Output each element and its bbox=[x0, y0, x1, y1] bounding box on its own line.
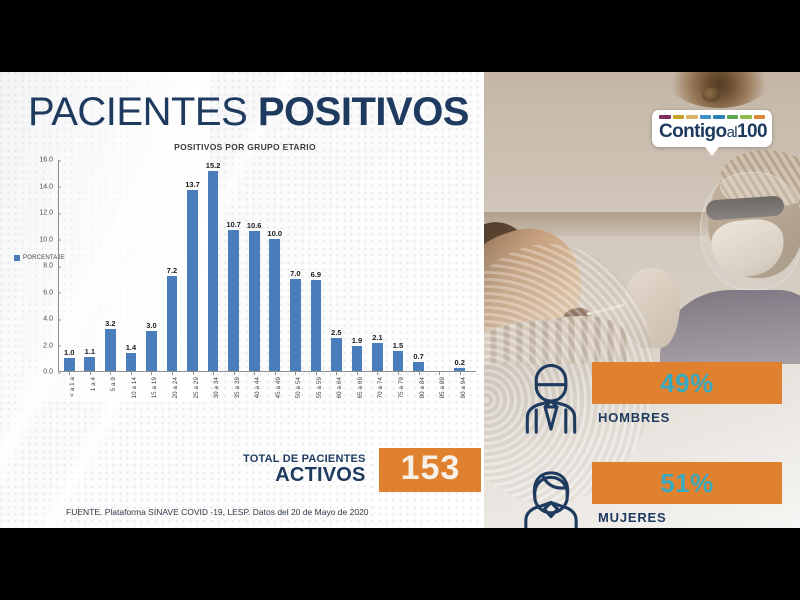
total-label-line2: ACTIVOS bbox=[243, 465, 366, 486]
bar-slot: 1.11 a 4 bbox=[80, 160, 101, 371]
bar-slot: 13.725 a 29 bbox=[182, 160, 203, 371]
x-axis-tick bbox=[172, 371, 173, 375]
x-axis-tick bbox=[254, 371, 255, 375]
x-axis-tick bbox=[460, 371, 461, 375]
bar-slot: 85 a 89 bbox=[429, 160, 450, 371]
x-axis-tick bbox=[213, 371, 214, 375]
chart: POSITIVOS POR GRUPO ETARIO PORCENTAJE 0.… bbox=[6, 142, 484, 442]
logo-color-bar bbox=[686, 115, 698, 119]
stat-hombres-bar: 49% bbox=[592, 362, 782, 404]
bar: 6.9 bbox=[311, 280, 322, 371]
bar-value-label: 10.0 bbox=[267, 229, 282, 238]
x-axis-label: 75 a 79 bbox=[398, 377, 405, 398]
left-panel: PACIENTES POSITIVOS POSITIVOS POR GRUPO … bbox=[0, 72, 484, 528]
x-axis-tick bbox=[234, 371, 235, 375]
x-axis-label: 10 a 14 bbox=[131, 377, 138, 398]
y-axis-tick: 10.0 bbox=[39, 236, 58, 243]
total-patients-block: TOTAL DE PACIENTES ACTIVOS 153 bbox=[243, 448, 482, 492]
logo-text-part3: 100 bbox=[737, 121, 767, 142]
page-title-light: PACIENTES bbox=[28, 90, 258, 134]
logo-color-bars bbox=[659, 115, 765, 119]
y-axis-tick: 8.0 bbox=[43, 263, 58, 270]
bar: 1.9 bbox=[352, 346, 363, 371]
bar-value-label: 15.2 bbox=[206, 161, 221, 170]
x-axis-tick bbox=[131, 371, 132, 375]
stat-hombres-label: HOMBRES bbox=[598, 410, 800, 425]
chart-plot-area: 0.02.04.06.08.010.012.014.016.0 1.0< a 1… bbox=[58, 160, 470, 372]
bar-value-label: 2.5 bbox=[331, 328, 341, 337]
right-panel: Contigoal100 bbox=[484, 72, 800, 528]
bar: 1.5 bbox=[393, 351, 404, 371]
x-axis-tick bbox=[336, 371, 337, 375]
x-axis-tick bbox=[275, 371, 276, 375]
bar-value-label: 1.9 bbox=[352, 336, 362, 345]
x-axis-label: 85 a 89 bbox=[439, 377, 446, 398]
x-axis-label: 70 a 74 bbox=[377, 377, 384, 398]
bar: 10.0 bbox=[269, 239, 280, 371]
bar-value-label: 6.9 bbox=[311, 270, 321, 279]
bar-slot: 6.955 a 59 bbox=[306, 160, 327, 371]
x-axis-label: 65 a 69 bbox=[357, 377, 364, 398]
chart-title: POSITIVOS POR GRUPO ETARIO bbox=[6, 142, 484, 152]
y-axis-tick: 0.0 bbox=[43, 369, 58, 376]
bar: 2.1 bbox=[372, 343, 383, 371]
x-axis-tick bbox=[193, 371, 194, 375]
page-title-bold: POSITIVOS bbox=[258, 90, 469, 134]
total-patients-label: TOTAL DE PACIENTES ACTIVOS bbox=[243, 454, 366, 487]
x-axis-tick bbox=[419, 371, 420, 375]
x-axis-label: 30 a 34 bbox=[213, 377, 220, 398]
bar: 10.6 bbox=[249, 231, 260, 371]
bar-value-label: 3.0 bbox=[146, 321, 156, 330]
x-axis-tick bbox=[90, 371, 91, 375]
x-axis-label: < a 1 a bbox=[69, 377, 76, 397]
x-axis-tick bbox=[398, 371, 399, 375]
stat-mujeres: 51% MUJERES bbox=[484, 462, 800, 528]
bar-value-label: 1.5 bbox=[393, 341, 403, 350]
y-axis-tick: 2.0 bbox=[43, 342, 58, 349]
logo-text: Contigoal100 bbox=[659, 122, 765, 141]
x-axis-tick bbox=[377, 371, 378, 375]
bar: 3.0 bbox=[146, 331, 157, 371]
x-axis-label: 40 a 44 bbox=[254, 377, 261, 398]
bar-slot: 3.015 a 19 bbox=[141, 160, 162, 371]
bar-value-label: 10.6 bbox=[247, 221, 262, 230]
x-axis-label: 15 a 19 bbox=[151, 377, 158, 398]
bar-value-label: 1.1 bbox=[85, 347, 95, 356]
y-axis-tick: 12.0 bbox=[39, 210, 58, 217]
logo-text-part2: al bbox=[727, 124, 737, 141]
bar-slot: 10.735 a 39 bbox=[223, 160, 244, 371]
logo-color-bar bbox=[740, 115, 752, 119]
bar: 1.1 bbox=[84, 357, 95, 372]
stat-hombres-content: 49% HOMBRES bbox=[588, 362, 800, 425]
x-axis-label: 50 a 54 bbox=[295, 377, 302, 398]
bar-value-label: 7.2 bbox=[167, 266, 177, 275]
stat-hombres-percent: 49% bbox=[660, 368, 714, 399]
x-axis-tick bbox=[151, 371, 152, 375]
y-axis-tick: 4.0 bbox=[43, 316, 58, 323]
bar-slot: 1.0< a 1 a bbox=[59, 160, 80, 371]
bar-value-label: 1.4 bbox=[126, 343, 136, 352]
x-axis-label: 35 a 39 bbox=[234, 377, 241, 398]
logo-color-bar bbox=[673, 115, 685, 119]
video-frame: PACIENTES POSITIVOS POSITIVOS POR GRUPO … bbox=[0, 0, 800, 600]
bar-value-label: 0.2 bbox=[454, 358, 464, 367]
logo-color-bar bbox=[754, 115, 766, 119]
stat-mujeres-percent: 51% bbox=[660, 468, 714, 499]
bar: 0.7 bbox=[413, 362, 424, 371]
legend-swatch-porcentaje bbox=[14, 255, 20, 261]
bar-value-label: 1.0 bbox=[64, 348, 74, 357]
bar-slot: 0.780 a 84 bbox=[408, 160, 429, 371]
logo-text-part1: Contigo bbox=[659, 121, 727, 142]
y-axis-tick: 6.0 bbox=[43, 289, 58, 296]
stat-mujeres-bar: 51% bbox=[592, 462, 782, 504]
bar-slot: 1.965 a 69 bbox=[347, 160, 368, 371]
bar: 3.2 bbox=[105, 329, 116, 371]
stat-hombres: 49% HOMBRES bbox=[484, 362, 800, 438]
x-axis-tick bbox=[439, 371, 440, 375]
x-axis-label: 80 a 84 bbox=[419, 377, 426, 398]
x-axis-label: 25 a 29 bbox=[193, 377, 200, 398]
bar-value-label: 7.0 bbox=[290, 269, 300, 278]
x-axis-label: 60 a 64 bbox=[336, 377, 343, 398]
bar: 2.5 bbox=[331, 338, 342, 371]
logo-color-bar bbox=[713, 115, 725, 119]
x-axis-tick bbox=[110, 371, 111, 375]
logo-color-bar bbox=[659, 115, 671, 119]
bar: 7.2 bbox=[167, 276, 178, 371]
bar-slot: 3.25 a 9 bbox=[100, 160, 121, 371]
bar-value-label: 0.7 bbox=[413, 352, 423, 361]
bar-value-label: 13.7 bbox=[185, 180, 200, 189]
bar-slot: 1.410 a 14 bbox=[121, 160, 142, 371]
x-axis-label: 45 a 49 bbox=[275, 377, 282, 398]
bar: 10.7 bbox=[228, 230, 239, 371]
bar: 13.7 bbox=[187, 190, 198, 371]
x-axis-tick bbox=[316, 371, 317, 375]
x-axis-tick bbox=[357, 371, 358, 375]
bar: 7.0 bbox=[290, 279, 301, 371]
male-person-icon bbox=[514, 364, 588, 438]
y-axis-tick: 16.0 bbox=[39, 157, 58, 164]
bar-slot: 7.050 a 54 bbox=[285, 160, 306, 371]
stat-mujeres-label: MUJERES bbox=[598, 510, 800, 525]
slide-content: PACIENTES POSITIVOS POSITIVOS POR GRUPO … bbox=[0, 72, 800, 528]
bar-slot: 2.170 a 74 bbox=[367, 160, 388, 371]
source-note: FUENTE. Plataforma SINAVE COVID -19, LES… bbox=[66, 507, 369, 517]
female-person-icon bbox=[514, 464, 588, 528]
y-axis-tick: 14.0 bbox=[39, 183, 58, 190]
x-axis-label: 55 a 59 bbox=[316, 377, 323, 398]
bar-slot: 10.640 a 44 bbox=[244, 160, 265, 371]
bar-slot: 1.575 a 79 bbox=[388, 160, 409, 371]
bar-slot: 7.220 a 24 bbox=[162, 160, 183, 371]
bar: 1.4 bbox=[126, 353, 137, 371]
bar-value-label: 2.1 bbox=[372, 333, 382, 342]
bar-slot: 10.045 a 49 bbox=[264, 160, 285, 371]
total-patients-value: 153 bbox=[379, 448, 483, 492]
bar: 1.0 bbox=[64, 358, 75, 371]
bar-slot: 2.560 a 64 bbox=[326, 160, 347, 371]
x-axis-label: 20 a 24 bbox=[172, 377, 179, 398]
logo-color-bar bbox=[727, 115, 739, 119]
bar-slot: 15.230 a 34 bbox=[203, 160, 224, 371]
x-axis-tick bbox=[295, 371, 296, 375]
x-axis-label: 90 a 94 bbox=[460, 377, 467, 398]
bar-series-porcentaje: 1.0< a 1 a1.11 a 43.25 a 91.410 a 143.01… bbox=[59, 160, 470, 371]
page-title: PACIENTES POSITIVOS bbox=[28, 90, 469, 135]
bar: 15.2 bbox=[208, 171, 219, 371]
x-axis-tick bbox=[69, 371, 70, 375]
bar-slot: 0.290 a 94 bbox=[449, 160, 470, 371]
logo-color-bar bbox=[700, 115, 712, 119]
stat-mujeres-content: 51% MUJERES bbox=[588, 462, 800, 525]
x-axis-label: 1 a 4 bbox=[90, 377, 97, 391]
bar-value-label: 10.7 bbox=[226, 220, 241, 229]
x-axis-label: 5 a 9 bbox=[110, 377, 117, 391]
x-axis bbox=[58, 371, 476, 372]
bar-value-label: 3.2 bbox=[105, 319, 115, 328]
contigo-al-100-logo: Contigoal100 bbox=[652, 110, 772, 147]
